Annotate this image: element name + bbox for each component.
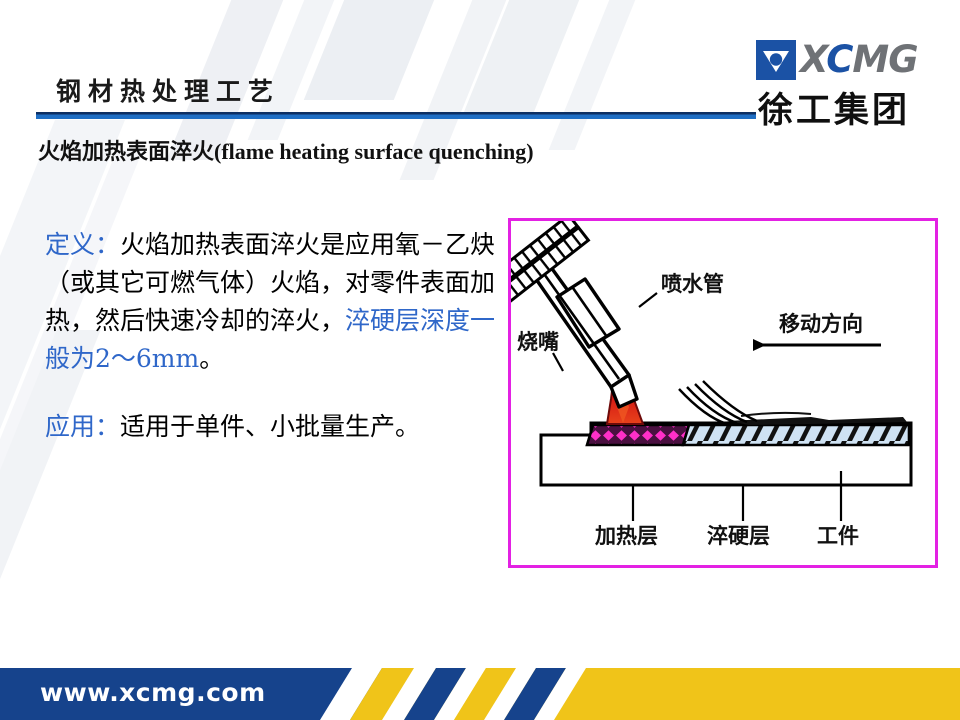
application-block: 应用：适用于单件、小批量生产。 [45,408,420,446]
logo-letters-mg: MG [852,38,917,81]
flame-quenching-diagram: 喷水管 烧嘴 移动方向 加热层 淬硬层 工件 [508,218,938,568]
logo-letter-x: X [800,38,826,81]
definition-paragraph: 定义：火焰加热表面淬火是应用氧－乙炔（或其它可燃气体）火焰，对零件表面加热，然后… [45,226,497,378]
title-divider [36,112,756,119]
definition-line-4: 淬火， [270,306,345,335]
subtitle-english: (flame heating surface quenching) [214,139,534,164]
page-subtitle: 火焰加热表面淬火(flame heating surface quenching… [38,134,534,166]
label-heated-layer: 加热层 [594,524,658,548]
slide-root: 钢材热处理工艺 火焰加热表面淬火(flame heating surface q… [0,0,960,720]
footer-bar: www.xcmg.com [0,664,960,720]
subtitle-chinese: 火焰加热表面淬火 [38,139,214,165]
application-text: 适用于单件、小批量生产。 [120,412,420,441]
water-jets [679,381,757,424]
heated-layer-region [587,425,689,445]
label-workpiece: 工件 [817,524,859,548]
label-move-direction: 移动方向 [779,312,863,336]
label-hardened-layer: 淬硬层 [707,524,770,548]
definition-label: 定义： [45,230,120,259]
xcmg-triangle-mark-icon [756,40,796,80]
footer-website-url[interactable]: www.xcmg.com [40,678,266,707]
logo-top-row: XCMG [756,38,952,84]
label-burner: 烧嘴 [517,330,559,354]
definition-end: 。 [199,344,224,373]
logo-chinese-name: 徐工集团 [758,82,910,133]
page-title: 钢材热处理工艺 [56,72,280,108]
hardened-layer-region [683,425,909,445]
definition-block: 定义：火焰加热表面淬火是应用氧－乙炔（或其它可燃气体）火焰，对零件表面加热，然后… [45,226,497,378]
application-label: 应用： [45,412,120,441]
logo-letter-c: C [826,38,852,81]
definition-line-1: 火焰加热表面淬火是应用氧 [120,230,420,259]
xcmg-logo: XCMG 徐工集团 [756,38,952,130]
logo-wordmark: XCMG [800,37,918,83]
label-spray-pipe: 喷水管 [661,272,724,296]
